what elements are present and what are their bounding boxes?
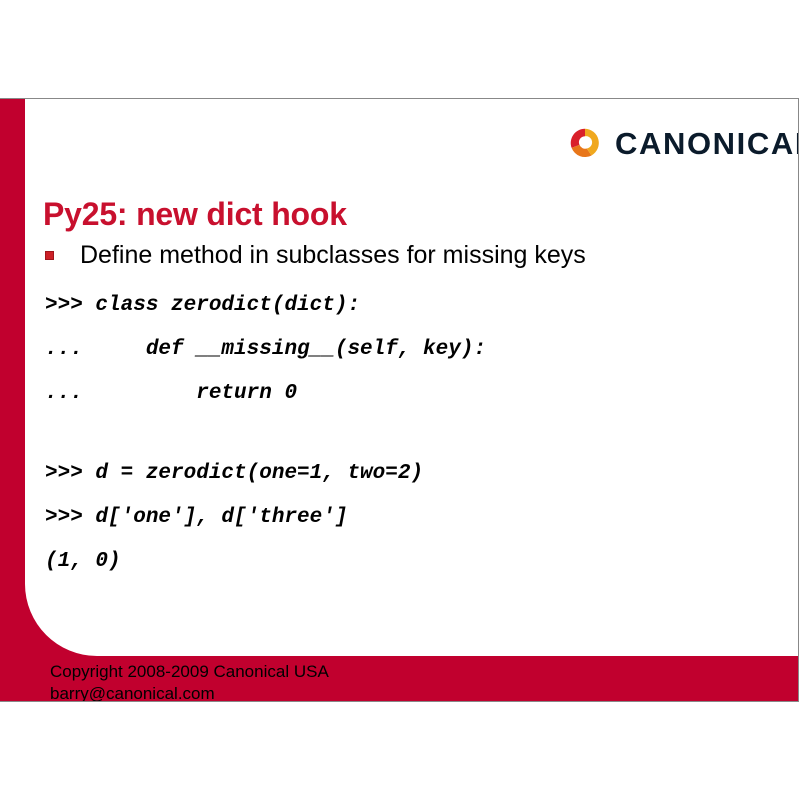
code-line: >>> d['one'], d['three'] bbox=[45, 496, 745, 540]
slide-footer: Copyright 2008-2009 Canonical USA barry@… bbox=[50, 661, 329, 702]
code-line: ... def __missing__(self, key): bbox=[45, 328, 745, 372]
presentation-slide: CANONICAL Py25: new dict hook Define met… bbox=[0, 98, 799, 702]
red-square-bullet-icon bbox=[45, 251, 54, 260]
slide-content-panel: CANONICAL Py25: new dict hook Define met… bbox=[25, 99, 799, 656]
canonical-logo: CANONICAL bbox=[568, 123, 799, 163]
footer-email: barry@canonical.com bbox=[50, 683, 329, 702]
bullet-item-label: Define method in subclasses for missing … bbox=[80, 241, 586, 270]
code-block: >>> class zerodict(dict): ... def __miss… bbox=[45, 284, 745, 584]
canonical-circle-of-friends-icon bbox=[568, 126, 602, 160]
footer-copyright: Copyright 2008-2009 Canonical USA bbox=[50, 661, 329, 683]
bullet-item: Define method in subclasses for missing … bbox=[45, 241, 586, 270]
code-line: ... return 0 bbox=[45, 372, 745, 416]
code-line: (1, 0) bbox=[45, 540, 745, 584]
code-line: >>> class zerodict(dict): bbox=[45, 284, 745, 328]
code-line: >>> d = zerodict(one=1, two=2) bbox=[45, 452, 745, 496]
canonical-wordmark: CANONICAL bbox=[615, 128, 799, 159]
code-line-blank bbox=[45, 416, 745, 452]
page-title: Py25: new dict hook bbox=[43, 196, 347, 233]
slide-canvas: CANONICAL Py25: new dict hook Define met… bbox=[0, 0, 800, 800]
